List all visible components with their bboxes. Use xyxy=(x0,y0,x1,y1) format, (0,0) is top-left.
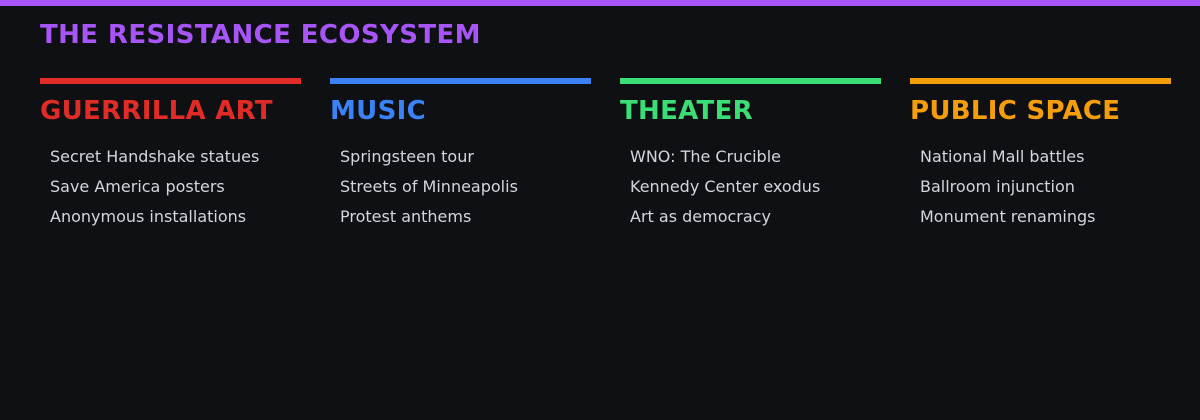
top-accent-bar xyxy=(0,0,1200,6)
category-rule-theater xyxy=(620,78,881,84)
list-item: Save America posters xyxy=(50,172,301,202)
category-items-guerrilla-art: Secret Handshake statues Save America po… xyxy=(50,142,301,232)
list-item: Streets of Minneapolis xyxy=(340,172,591,202)
category-columns: GUERRILLA ART Secret Handshake statues S… xyxy=(40,78,1170,232)
list-item: WNO: The Crucible xyxy=(630,142,881,172)
list-item: Anonymous installations xyxy=(50,202,301,232)
category-rule-guerrilla-art xyxy=(40,78,301,84)
page-title: THE RESISTANCE ECOSYSTEM xyxy=(40,20,481,50)
category-rule-public-space xyxy=(910,78,1171,84)
category-column-music: MUSIC Springsteen tour Streets of Minnea… xyxy=(330,78,591,232)
list-item: Kennedy Center exodus xyxy=(630,172,881,202)
category-items-music: Springsteen tour Streets of Minneapolis … xyxy=(340,142,591,232)
category-items-theater: WNO: The Crucible Kennedy Center exodus … xyxy=(630,142,881,232)
list-item: Protest anthems xyxy=(340,202,591,232)
category-title-music: MUSIC xyxy=(330,98,591,124)
list-item: Springsteen tour xyxy=(340,142,591,172)
category-title-public-space: PUBLIC SPACE xyxy=(910,98,1171,124)
category-items-public-space: National Mall battles Ballroom injunctio… xyxy=(920,142,1171,232)
list-item: Ballroom injunction xyxy=(920,172,1171,202)
category-title-theater: THEATER xyxy=(620,98,881,124)
category-title-guerrilla-art: GUERRILLA ART xyxy=(40,98,301,124)
list-item: Secret Handshake statues xyxy=(50,142,301,172)
list-item: Art as democracy xyxy=(630,202,881,232)
category-column-theater: THEATER WNO: The Crucible Kennedy Center… xyxy=(620,78,881,232)
category-rule-music xyxy=(330,78,591,84)
category-column-public-space: PUBLIC SPACE National Mall battles Ballr… xyxy=(910,78,1171,232)
list-item: Monument renamings xyxy=(920,202,1171,232)
category-column-guerrilla-art: GUERRILLA ART Secret Handshake statues S… xyxy=(40,78,301,232)
list-item: National Mall battles xyxy=(920,142,1171,172)
